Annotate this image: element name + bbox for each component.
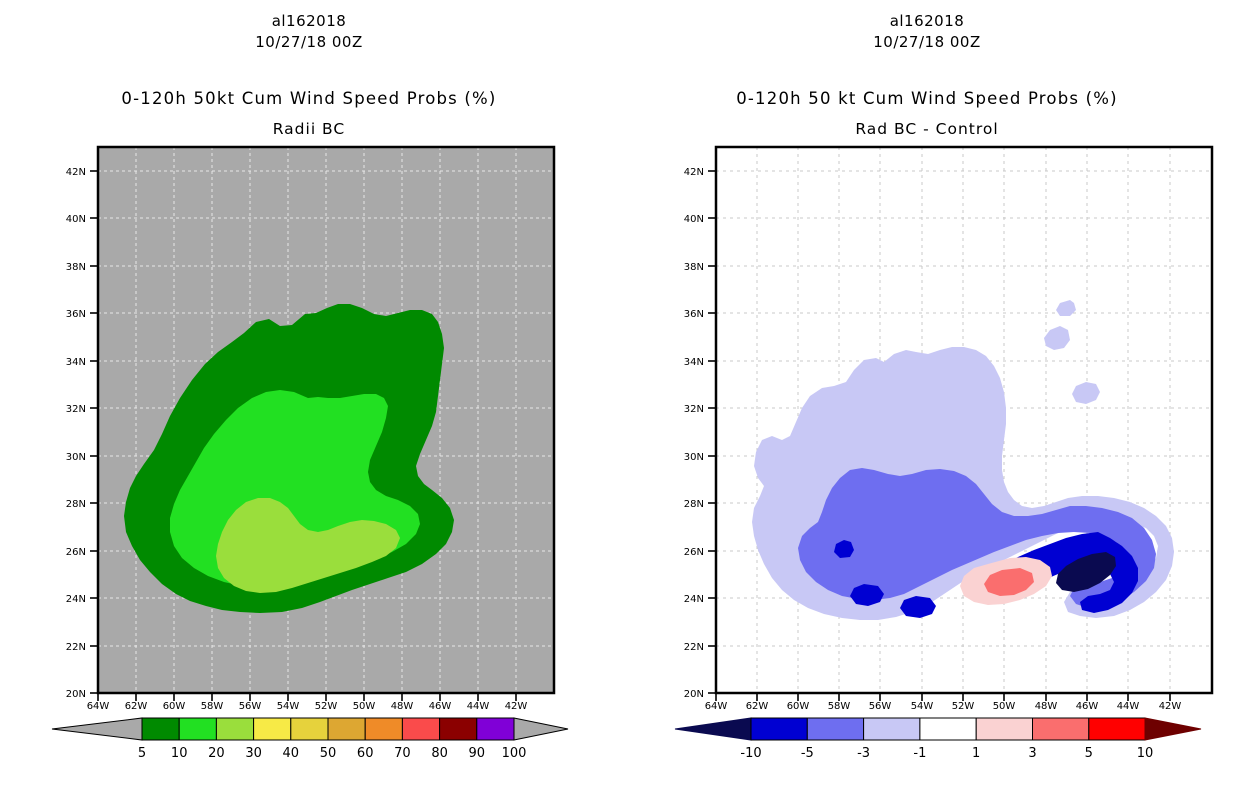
left-cb-label-40: 40 <box>283 746 300 761</box>
right-ytick-38N: 38N <box>684 262 704 273</box>
left-cb-seg-9 <box>477 718 514 740</box>
right-xtick-44W: 44W <box>1117 701 1140 710</box>
right-ytick-32N: 32N <box>684 404 704 415</box>
right-xtick-64W: 64W <box>705 701 728 710</box>
left-ytick-40N: 40N <box>66 214 86 225</box>
left-xtick-48W: 48W <box>391 701 414 710</box>
right-ytick-30N: 30N <box>684 452 704 463</box>
right-xtick-46W: 46W <box>1076 701 1099 710</box>
left-xtick-54W: 54W <box>277 701 300 710</box>
left-xtick-52W: 52W <box>315 701 338 710</box>
right-plot-subtitle: Rad BC - Control <box>618 120 1236 138</box>
right-date-label: 10/27/18 00Z <box>618 33 1236 51</box>
left-xtick-62W: 62W <box>125 701 148 710</box>
right-cb-seg-5 <box>1033 718 1089 740</box>
left-cb-label-80: 80 <box>431 746 448 761</box>
right-cb-label-m10: -10 <box>740 746 761 761</box>
left-ytick-38N: 38N <box>66 262 86 273</box>
left-cb-seg-3 <box>254 718 291 740</box>
left-xtick-56W: 56W <box>239 701 262 710</box>
left-xtick-60W: 60W <box>163 701 186 710</box>
right-xtick-56W: 56W <box>869 701 892 710</box>
right-cb-label-p3: 3 <box>1028 746 1036 761</box>
left-ytick-30N: 30N <box>66 452 86 463</box>
left-cb-label-50: 50 <box>320 746 337 761</box>
left-y-axis: 20N 22N 24N 26N 28N 30N 32N 34N 36N 38N … <box>66 167 98 700</box>
left-cb-seg-0 <box>142 718 179 740</box>
left-cb-seg-4 <box>291 718 328 740</box>
right-ytick-22N: 22N <box>684 642 704 653</box>
right-cb-label-m3: -3 <box>857 746 870 761</box>
left-cb-seg-5 <box>328 718 365 740</box>
right-storm-id: al162018 <box>618 12 1236 30</box>
left-ytick-22N: 22N <box>66 642 86 653</box>
left-colorbar-under-cap <box>52 718 142 740</box>
right-xtick-58W: 58W <box>828 701 851 710</box>
left-xtick-50W: 50W <box>353 701 376 710</box>
right-ytick-42N: 42N <box>684 167 704 178</box>
left-cb-label-90: 90 <box>469 746 486 761</box>
left-plot-title: 0-120h 50kt Cum Wind Speed Probs (%) <box>0 89 618 108</box>
left-colorbar-labels: 5 10 20 30 40 50 60 70 80 90 100 <box>138 746 527 761</box>
left-ytick-36N: 36N <box>66 309 86 320</box>
left-cb-label-30: 30 <box>245 746 262 761</box>
right-ytick-28N: 28N <box>684 499 704 510</box>
right-cb-label-m1: -1 <box>913 746 926 761</box>
right-cb-seg-0 <box>751 718 807 740</box>
right-colorbar-labels: -10 -5 -3 -1 1 3 5 10 <box>740 746 1153 761</box>
left-cb-label-20: 20 <box>208 746 225 761</box>
right-xtick-60W: 60W <box>787 701 810 710</box>
right-cb-seg-3 <box>920 718 976 740</box>
right-y-axis: 20N 22N 24N 26N 28N 30N 32N 34N 36N 38N … <box>684 167 716 700</box>
left-cb-seg-7 <box>402 718 439 740</box>
left-map-plot: 20N 22N 24N 26N 28N 30N 32N 34N 36N 38N … <box>40 140 600 710</box>
right-ytick-26N: 26N <box>684 547 704 558</box>
left-xtick-42W: 42W <box>505 701 528 710</box>
left-cb-label-60: 60 <box>357 746 374 761</box>
right-ytick-24N: 24N <box>684 594 704 605</box>
right-cb-label-p5: 5 <box>1085 746 1093 761</box>
right-ytick-40N: 40N <box>684 214 704 225</box>
left-xtick-58W: 58W <box>201 701 224 710</box>
right-xtick-48W: 48W <box>1035 701 1058 710</box>
right-cb-seg-6 <box>1089 718 1145 740</box>
left-xtick-44W: 44W <box>467 701 490 710</box>
right-cb-label-p10: 10 <box>1137 746 1154 761</box>
left-xtick-46W: 46W <box>429 701 452 710</box>
left-cb-label-100: 100 <box>502 746 527 761</box>
left-colorbar-segments <box>142 718 514 740</box>
left-cb-label-5: 5 <box>138 746 146 761</box>
right-colorbar: -10 -5 -3 -1 1 3 5 10 <box>673 712 1203 762</box>
right-xtick-54W: 54W <box>911 701 934 710</box>
left-colorbar: 5 10 20 30 40 50 60 70 80 90 100 <box>45 712 575 762</box>
left-colorbar-over-cap <box>514 718 568 740</box>
right-cb-seg-2 <box>864 718 920 740</box>
right-x-axis: 64W 62W 60W 58W 56W 54W 52W 50W 48W 46W … <box>705 693 1182 710</box>
panel-left: al162018 10/27/18 00Z 0-120h 50kt Cum Wi… <box>0 0 618 800</box>
right-colorbar-over-cap <box>1145 718 1201 740</box>
left-xtick-64W: 64W <box>87 701 110 710</box>
panel-right: al162018 10/27/18 00Z 0-120h 50 kt Cum W… <box>618 0 1236 800</box>
right-xtick-42W: 42W <box>1159 701 1182 710</box>
left-x-axis: 64W 62W 60W 58W 56W 54W 52W 50W 48W 46W … <box>87 693 528 710</box>
right-cb-label-p1: 1 <box>972 746 980 761</box>
right-colorbar-segments <box>751 718 1145 740</box>
right-cb-seg-1 <box>807 718 863 740</box>
right-ytick-20N: 20N <box>684 689 704 700</box>
left-cb-seg-1 <box>179 718 216 740</box>
right-ytick-34N: 34N <box>684 357 704 368</box>
right-plot-title: 0-120h 50 kt Cum Wind Speed Probs (%) <box>618 89 1236 108</box>
left-ytick-28N: 28N <box>66 499 86 510</box>
left-plot-subtitle: Radii BC <box>0 120 618 138</box>
left-ytick-32N: 32N <box>66 404 86 415</box>
left-ytick-42N: 42N <box>66 167 86 178</box>
left-cb-seg-8 <box>440 718 477 740</box>
left-cb-seg-2 <box>216 718 253 740</box>
right-ytick-36N: 36N <box>684 309 704 320</box>
right-cb-label-m5: -5 <box>801 746 814 761</box>
left-cb-seg-6 <box>365 718 402 740</box>
right-xtick-50W: 50W <box>993 701 1016 710</box>
right-xtick-52W: 52W <box>952 701 975 710</box>
left-cb-label-10: 10 <box>171 746 188 761</box>
right-cb-seg-4 <box>976 718 1032 740</box>
left-date-label: 10/27/18 00Z <box>0 33 618 51</box>
right-colorbar-under-cap <box>675 718 751 740</box>
left-storm-id: al162018 <box>0 12 618 30</box>
right-xtick-62W: 62W <box>746 701 769 710</box>
left-ytick-20N: 20N <box>66 689 86 700</box>
left-ytick-26N: 26N <box>66 547 86 558</box>
left-ytick-24N: 24N <box>66 594 86 605</box>
left-ytick-34N: 34N <box>66 357 86 368</box>
left-cb-label-70: 70 <box>394 746 411 761</box>
right-map-plot: 20N 22N 24N 26N 28N 30N 32N 34N 36N 38N … <box>658 140 1218 710</box>
